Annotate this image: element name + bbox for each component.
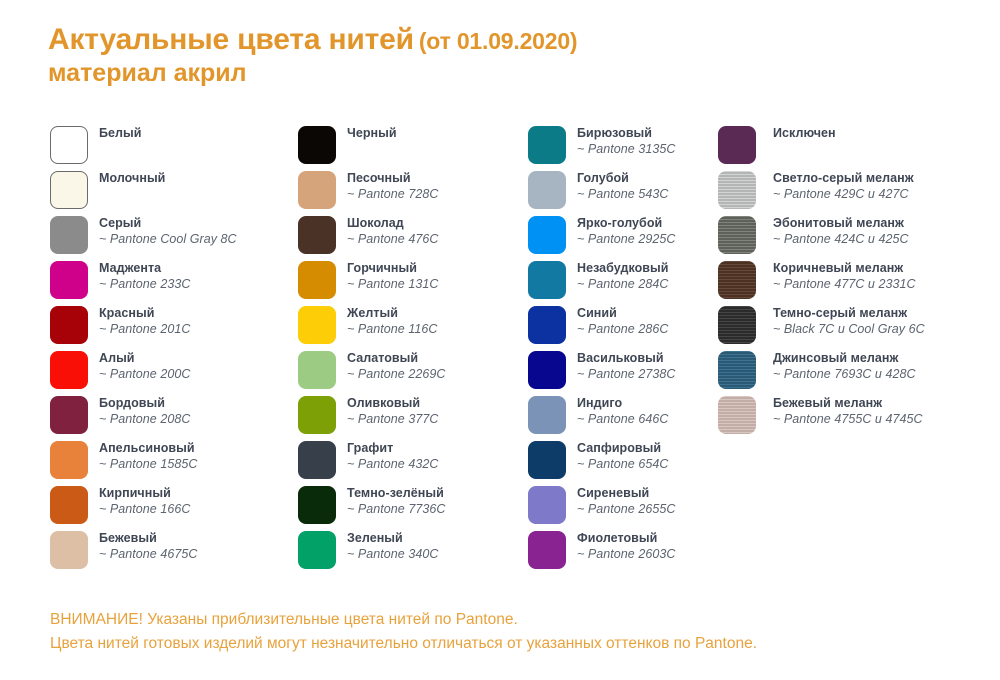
color-name: Зеленый <box>347 530 438 546</box>
color-name: Красный <box>99 305 190 321</box>
color-name: Ярко-голубой <box>577 215 675 231</box>
color-labels: Темно-серый меланж~ Black 7C и Cool Gray… <box>773 305 925 337</box>
pantone-code: ~ Pantone 2738C <box>577 366 675 382</box>
color-name: Бежевый <box>99 530 197 546</box>
pantone-code: ~ Pantone 166C <box>99 501 190 517</box>
color-name: Темно-серый меланж <box>773 305 925 321</box>
color-name: Горчичный <box>347 260 438 276</box>
color-name: Индиго <box>577 395 668 411</box>
color-labels: Красный~ Pantone 201C <box>99 305 190 337</box>
color-row[interactable]: Индиго~ Pantone 646C <box>528 396 718 441</box>
color-row[interactable]: Незабудковый~ Pantone 284C <box>528 261 718 306</box>
color-row[interactable]: Джинсовый меланж~ Pantone 7693C и 428C <box>718 351 963 396</box>
color-swatch[interactable] <box>718 261 756 299</box>
color-row[interactable]: Васильковый~ Pantone 2738C <box>528 351 718 396</box>
color-swatch[interactable] <box>298 171 336 209</box>
color-name: Голубой <box>577 170 668 186</box>
color-swatch[interactable] <box>528 351 566 389</box>
color-swatch[interactable] <box>718 396 756 434</box>
color-swatch[interactable] <box>298 531 336 569</box>
pantone-code: ~ Pantone 2269C <box>347 366 445 382</box>
color-labels: Серый~ Pantone Cool Gray 8C <box>99 215 237 247</box>
color-name: Графит <box>347 440 438 456</box>
color-name: Черный <box>347 125 397 142</box>
color-labels: Васильковый~ Pantone 2738C <box>577 350 675 382</box>
color-row[interactable]: Коричневый меланж~ Pantone 477C и 2331C <box>718 261 963 306</box>
pantone-code: ~ Pantone 340C <box>347 546 438 562</box>
color-labels: Графит~ Pantone 432C <box>347 440 438 472</box>
pantone-code: ~ Pantone 424C и 425C <box>773 231 909 247</box>
color-labels: Джинсовый меланж~ Pantone 7693C и 428C <box>773 350 916 382</box>
color-row[interactable]: Сапфировый~ Pantone 654C <box>528 441 718 486</box>
pantone-code: ~ Pantone 131C <box>347 276 438 292</box>
color-labels: Голубой~ Pantone 543C <box>577 170 668 202</box>
color-name: Салатовый <box>347 350 445 366</box>
color-row[interactable]: Синий~ Pantone 286C <box>528 306 718 351</box>
footer-note: ВНИМАНИЕ! Указаны приблизительные цвета … <box>50 608 757 656</box>
color-labels: Светло-серый меланж~ Pantone 429C и 427C <box>773 170 914 202</box>
pantone-code: ~ Pantone 429C и 427C <box>773 186 914 202</box>
color-chart-page: Актуальные цвета нитей(от 01.09.2020) ма… <box>0 0 1000 680</box>
color-row[interactable]: Апельсиновый~ Pantone 1585C <box>50 441 290 486</box>
color-row[interactable]: Черный <box>298 126 523 171</box>
color-row[interactable]: Фиолетовый~ Pantone 2603C <box>528 531 718 576</box>
color-swatch[interactable] <box>528 171 566 209</box>
color-name: Бежевый меланж <box>773 395 923 411</box>
color-name: Маджента <box>99 260 190 276</box>
color-row[interactable]: Шоколад~ Pantone 476C <box>298 216 523 261</box>
pantone-code: ~ Black 7C и Cool Gray 6C <box>773 321 925 337</box>
color-swatch[interactable] <box>298 261 336 299</box>
color-name: Оливковый <box>347 395 438 411</box>
color-row[interactable]: Салатовый~ Pantone 2269C <box>298 351 523 396</box>
color-swatch[interactable] <box>528 216 566 254</box>
footer-note-line-1: ВНИМАНИЕ! Указаны приблизительные цвета … <box>50 608 757 632</box>
color-name: Исключен <box>773 125 836 142</box>
color-swatch[interactable] <box>50 531 88 569</box>
pantone-code: ~ Pantone 3135C <box>577 141 675 157</box>
pantone-code: ~ Pantone 7736C <box>347 501 445 517</box>
color-swatch[interactable] <box>528 441 566 479</box>
color-swatch[interactable] <box>718 126 756 164</box>
color-labels: Бежевый меланж~ Pantone 4755C и 4745C <box>773 395 923 427</box>
pantone-code: ~ Pantone 1585C <box>99 456 197 472</box>
color-swatch[interactable] <box>528 126 566 164</box>
color-row[interactable]: Бежевый меланж~ Pantone 4755C и 4745C <box>718 396 963 441</box>
color-row[interactable]: Бирюзовый~ Pantone 3135C <box>528 126 718 171</box>
column-4: ИсключенСветло-серый меланж~ Pantone 429… <box>718 126 963 441</box>
pantone-code: ~ Pantone 476C <box>347 231 438 247</box>
color-swatch[interactable] <box>718 306 756 344</box>
color-labels: Зеленый~ Pantone 340C <box>347 530 438 562</box>
color-labels: Сиреневый~ Pantone 2655C <box>577 485 675 517</box>
color-row[interactable]: Эбонитовый меланж~ Pantone 424C и 425C <box>718 216 963 261</box>
color-labels: Фиолетовый~ Pantone 2603C <box>577 530 675 562</box>
color-swatch[interactable] <box>50 441 88 479</box>
pantone-code: ~ Pantone 200C <box>99 366 190 382</box>
pantone-code: ~ Pantone 233C <box>99 276 190 292</box>
page-header: Актуальные цвета нитей(от 01.09.2020) ма… <box>48 24 577 87</box>
color-labels: Горчичный~ Pantone 131C <box>347 260 438 292</box>
column-1: БелыйМолочныйСерый~ Pantone Cool Gray 8C… <box>50 126 290 576</box>
color-swatch[interactable] <box>528 306 566 344</box>
color-swatch[interactable] <box>50 216 88 254</box>
pantone-code: ~ Pantone 201C <box>99 321 190 337</box>
pantone-code: ~ Pantone 208C <box>99 411 190 427</box>
color-name: Эбонитовый меланж <box>773 215 909 231</box>
color-name: Белый <box>99 125 142 142</box>
pantone-code: ~ Pantone 284C <box>577 276 668 292</box>
color-name: Незабудковый <box>577 260 668 276</box>
pantone-code: ~ Pantone 286C <box>577 321 668 337</box>
color-row[interactable]: Молочный <box>50 171 290 216</box>
color-row[interactable]: Бордовый~ Pantone 208C <box>50 396 290 441</box>
color-name: Бирюзовый <box>577 125 675 141</box>
pantone-code: ~ Pantone 2655C <box>577 501 675 517</box>
color-name: Желтый <box>347 305 437 321</box>
color-swatch[interactable] <box>50 126 88 164</box>
color-labels: Ярко-голубой~ Pantone 2925C <box>577 215 675 247</box>
color-name: Шоколад <box>347 215 438 231</box>
color-swatch[interactable] <box>50 351 88 389</box>
column-2: ЧерныйПесочный~ Pantone 728CШоколад~ Pan… <box>298 126 523 576</box>
color-row[interactable]: Желтый~ Pantone 116C <box>298 306 523 351</box>
color-labels: Коричневый меланж~ Pantone 477C и 2331C <box>773 260 916 292</box>
pantone-code: ~ Pantone 477C и 2331C <box>773 276 916 292</box>
pantone-code: ~ Pantone 377C <box>347 411 438 427</box>
color-swatch[interactable] <box>298 486 336 524</box>
color-labels: Желтый~ Pantone 116C <box>347 305 437 337</box>
color-row[interactable]: Серый~ Pantone Cool Gray 8C <box>50 216 290 261</box>
pantone-code: ~ Pantone 646C <box>577 411 668 427</box>
color-labels: Сапфировый~ Pantone 654C <box>577 440 668 472</box>
pantone-code: ~ Pantone 654C <box>577 456 668 472</box>
color-swatch[interactable] <box>298 351 336 389</box>
color-swatch[interactable] <box>528 486 566 524</box>
page-title-date: (от 01.09.2020) <box>419 28 578 54</box>
color-labels: Белый <box>99 125 142 142</box>
color-labels: Бирюзовый~ Pantone 3135C <box>577 125 675 157</box>
color-swatch[interactable] <box>718 351 756 389</box>
color-labels: Кирпичный~ Pantone 166C <box>99 485 190 517</box>
color-row[interactable]: Исключен <box>718 126 963 171</box>
color-name: Васильковый <box>577 350 675 366</box>
color-labels: Оливковый~ Pantone 377C <box>347 395 438 427</box>
color-labels: Шоколад~ Pantone 476C <box>347 215 438 247</box>
pantone-code: ~ Pantone 728C <box>347 186 438 202</box>
pantone-code: ~ Pantone 116C <box>347 321 437 337</box>
color-swatch[interactable] <box>50 306 88 344</box>
pantone-code: ~ Pantone 4675C <box>99 546 197 562</box>
color-row[interactable]: Ярко-голубой~ Pantone 2925C <box>528 216 718 261</box>
color-row[interactable]: Красный~ Pantone 201C <box>50 306 290 351</box>
color-name: Апельсиновый <box>99 440 197 456</box>
color-labels: Апельсиновый~ Pantone 1585C <box>99 440 197 472</box>
footer-note-line-2: Цвета нитей готовых изделий могут незнач… <box>50 632 757 656</box>
color-name: Синий <box>577 305 668 321</box>
color-row[interactable]: Зеленый~ Pantone 340C <box>298 531 523 576</box>
color-row[interactable]: Бежевый~ Pantone 4675C <box>50 531 290 576</box>
color-row[interactable]: Темно-серый меланж~ Black 7C и Cool Gray… <box>718 306 963 351</box>
pantone-code: ~ Pantone 543C <box>577 186 668 202</box>
color-name: Сиреневый <box>577 485 675 501</box>
column-3: Бирюзовый~ Pantone 3135CГолубой~ Pantone… <box>528 126 718 576</box>
color-name: Алый <box>99 350 190 366</box>
color-row[interactable]: Маджента~ Pantone 233C <box>50 261 290 306</box>
color-labels: Черный <box>347 125 397 142</box>
color-row[interactable]: Горчичный~ Pantone 131C <box>298 261 523 306</box>
pantone-code: ~ Pantone 432C <box>347 456 438 472</box>
color-swatch[interactable] <box>50 486 88 524</box>
color-name: Джинсовый меланж <box>773 350 916 366</box>
color-swatch[interactable] <box>718 171 756 209</box>
pantone-code: ~ Pantone 7693C и 428C <box>773 366 916 382</box>
color-labels: Песочный~ Pantone 728C <box>347 170 438 202</box>
color-row[interactable]: Голубой~ Pantone 543C <box>528 171 718 216</box>
color-name: Молочный <box>99 170 165 187</box>
color-row[interactable]: Белый <box>50 126 290 171</box>
color-labels: Индиго~ Pantone 646C <box>577 395 668 427</box>
color-labels: Бежевый~ Pantone 4675C <box>99 530 197 562</box>
color-row[interactable]: Оливковый~ Pantone 377C <box>298 396 523 441</box>
pantone-code: ~ Pantone Cool Gray 8C <box>99 231 237 247</box>
color-name: Фиолетовый <box>577 530 675 546</box>
color-swatch[interactable] <box>528 396 566 434</box>
color-row[interactable]: Песочный~ Pantone 728C <box>298 171 523 216</box>
color-name: Серый <box>99 215 237 231</box>
color-swatch[interactable] <box>298 396 336 434</box>
color-swatch[interactable] <box>298 306 336 344</box>
color-row[interactable]: Светло-серый меланж~ Pantone 429C и 427C <box>718 171 963 216</box>
color-name: Темно-зелёный <box>347 485 445 501</box>
pantone-code: ~ Pantone 2925C <box>577 231 675 247</box>
color-labels: Незабудковый~ Pantone 284C <box>577 260 668 292</box>
page-subtitle: материал акрил <box>48 59 577 88</box>
color-labels: Бордовый~ Pantone 208C <box>99 395 190 427</box>
color-labels: Эбонитовый меланж~ Pantone 424C и 425C <box>773 215 909 247</box>
color-name: Светло-серый меланж <box>773 170 914 186</box>
color-swatch[interactable] <box>298 126 336 164</box>
color-swatch[interactable] <box>298 441 336 479</box>
color-name: Кирпичный <box>99 485 190 501</box>
color-swatch[interactable] <box>50 171 88 209</box>
color-row[interactable]: Сиреневый~ Pantone 2655C <box>528 486 718 531</box>
color-row[interactable]: Алый~ Pantone 200C <box>50 351 290 396</box>
pantone-code: ~ Pantone 2603C <box>577 546 675 562</box>
color-labels: Молочный <box>99 170 165 187</box>
color-swatch[interactable] <box>718 216 756 254</box>
page-title-main: Актуальные цвета нитей <box>48 23 414 56</box>
page-title: Актуальные цвета нитей(от 01.09.2020) <box>48 24 577 56</box>
color-name: Сапфировый <box>577 440 668 456</box>
color-swatch[interactable] <box>298 216 336 254</box>
color-swatch[interactable] <box>50 396 88 434</box>
color-name: Бордовый <box>99 395 190 411</box>
color-labels: Алый~ Pantone 200C <box>99 350 190 382</box>
color-name: Песочный <box>347 170 438 186</box>
color-labels: Исключен <box>773 125 836 142</box>
color-swatch[interactable] <box>528 261 566 299</box>
color-labels: Салатовый~ Pantone 2269C <box>347 350 445 382</box>
color-row[interactable]: Темно-зелёный~ Pantone 7736C <box>298 486 523 531</box>
color-swatch[interactable] <box>528 531 566 569</box>
color-row[interactable]: Кирпичный~ Pantone 166C <box>50 486 290 531</box>
color-labels: Темно-зелёный~ Pantone 7736C <box>347 485 445 517</box>
pantone-code: ~ Pantone 4755C и 4745C <box>773 411 923 427</box>
color-swatch[interactable] <box>50 261 88 299</box>
color-labels: Маджента~ Pantone 233C <box>99 260 190 292</box>
color-labels: Синий~ Pantone 286C <box>577 305 668 337</box>
color-row[interactable]: Графит~ Pantone 432C <box>298 441 523 486</box>
color-name: Коричневый меланж <box>773 260 916 276</box>
